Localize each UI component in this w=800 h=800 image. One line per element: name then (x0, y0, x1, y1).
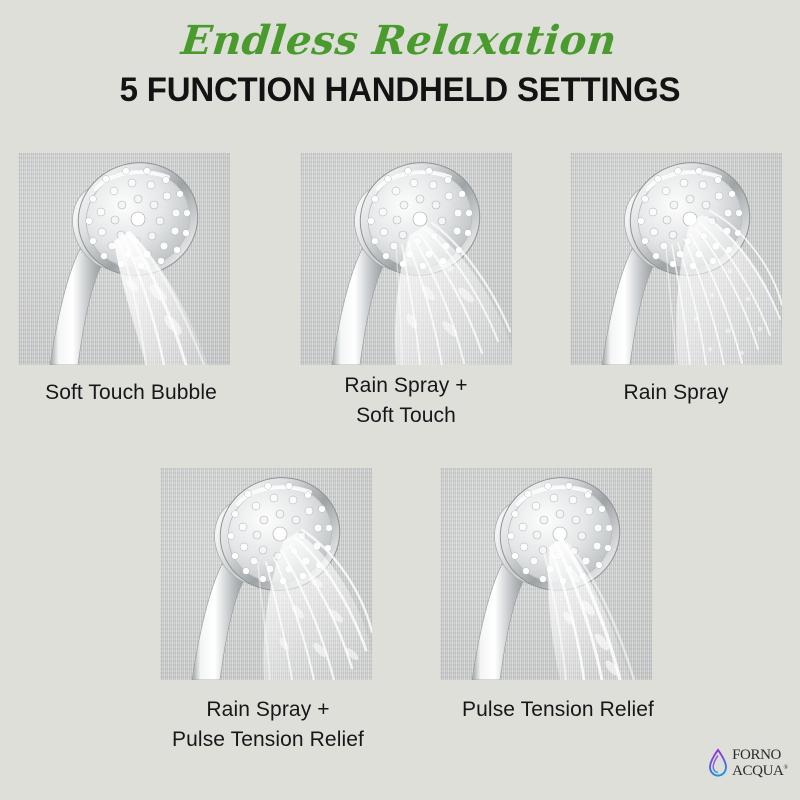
setting-caption-2: Rain Spray + Soft Touch (284, 371, 528, 431)
showerhead-image-5 (440, 468, 652, 680)
setting-tile-5 (440, 468, 652, 680)
script-title: Endless Relaxation (0, 0, 800, 64)
setting-tile-1 (18, 153, 230, 365)
infographic-page: Endless Relaxation 5 FUNCTION HANDHELD S… (0, 0, 800, 800)
logo-line-1: FORNO (732, 749, 788, 762)
setting-tile-4 (160, 468, 372, 680)
setting-caption-4: Rain Spray + Pulse Tension Relief (128, 695, 408, 755)
setting-caption-5: Pulse Tension Relief (418, 695, 698, 725)
setting-caption-1: Soft Touch Bubble (0, 378, 262, 408)
page-title: 5 FUNCTION HANDHELD SETTINGS (12, 64, 788, 110)
showerhead-image-2 (300, 153, 512, 365)
showerhead-image-3 (570, 153, 782, 365)
header: Endless Relaxation 5 FUNCTION HANDHELD S… (0, 0, 800, 110)
logo-line-2: ACQUA® (732, 762, 788, 778)
showerhead-image-1 (18, 153, 230, 365)
brand-logo: FORNO ACQUA® (707, 748, 788, 778)
logo-wordmark: FORNO ACQUA® (732, 749, 788, 778)
setting-tile-2 (300, 153, 512, 365)
setting-caption-3: Rain Spray (552, 378, 800, 408)
water-drop-icon (707, 748, 729, 778)
setting-tile-3 (570, 153, 782, 365)
logo-line-2-text: ACQUA (732, 763, 783, 779)
showerhead-image-4 (160, 468, 372, 680)
registered-mark: ® (783, 765, 788, 771)
